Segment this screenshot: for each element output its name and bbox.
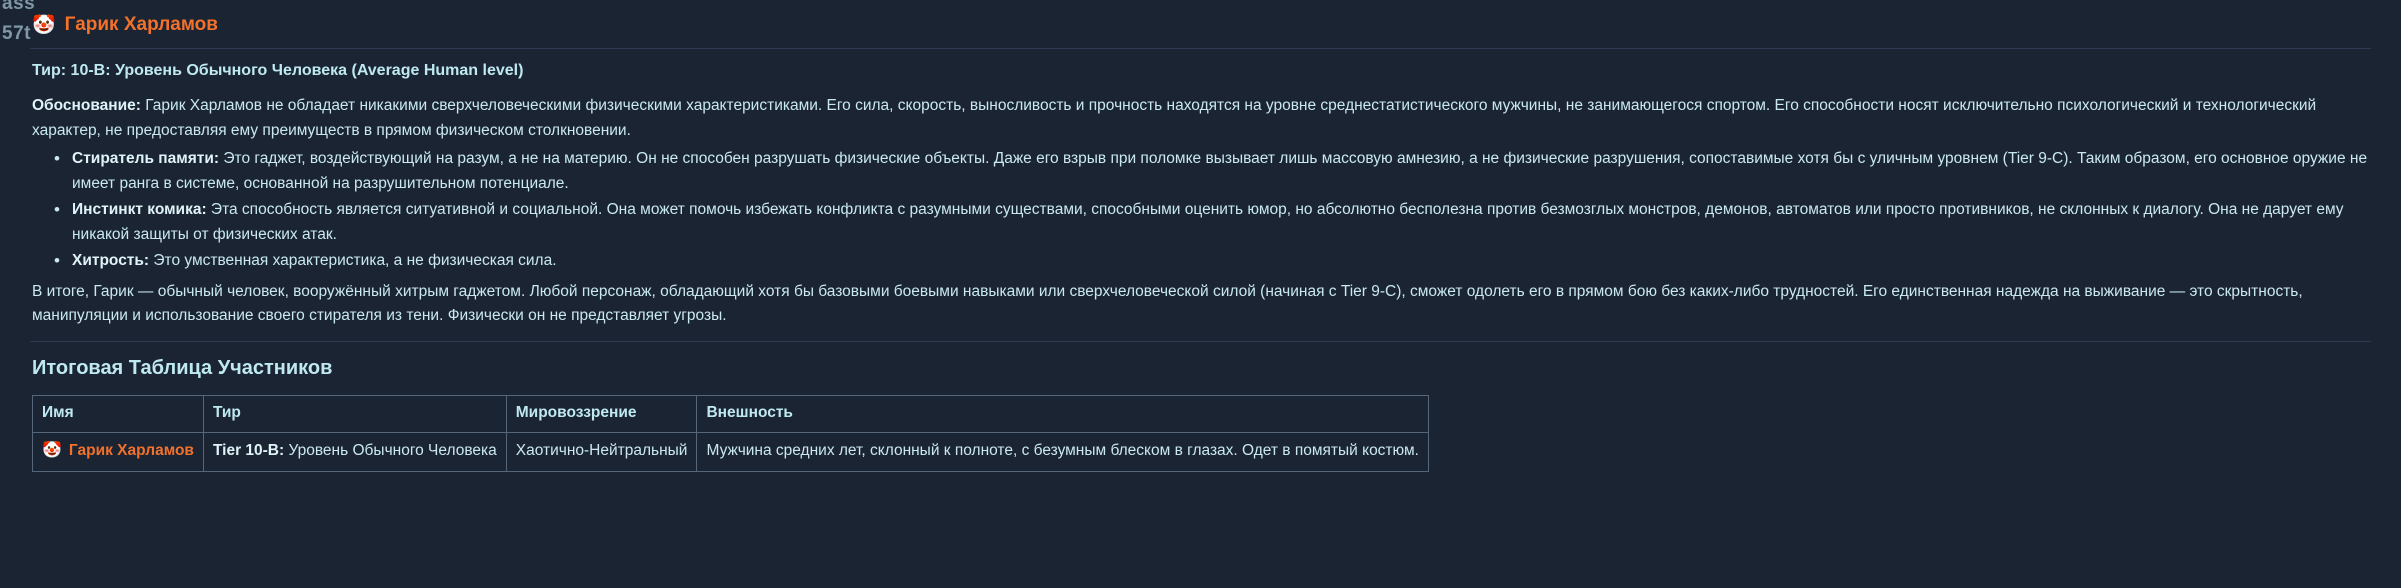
- page-root: ass 57t 🤡 Гарик Харламов Тир: 10-В: Уров…: [0, 0, 2401, 588]
- summary-table-title: Итоговая Таблица Участников: [32, 354, 2371, 383]
- reasoning-label: Обоснование:: [32, 97, 141, 114]
- table-head: Имя Тир Мировоззрение Внешность: [33, 395, 1429, 432]
- column-header-tier: Тир: [203, 395, 506, 432]
- table-header-row: Имя Тир Мировоззрение Внешность: [33, 395, 1429, 432]
- closing-paragraph: В итоге, Гарик — обычный человек, вооруж…: [32, 280, 2371, 329]
- character-name: Гарик Харламов: [65, 11, 218, 39]
- character-name-text: Гарик Харламов: [69, 440, 194, 462]
- column-header-appearance: Внешность: [697, 395, 1428, 432]
- column-header-name: Имя: [33, 395, 204, 432]
- bullet-text: Это умственная характеристика, а не физи…: [149, 252, 556, 269]
- bullet-term: Инстинкт комика:: [72, 201, 207, 218]
- cell-name: 🤡 Гарик Харламов: [33, 432, 204, 471]
- bullet-term: Стиратель памяти:: [72, 150, 219, 167]
- table-row: 🤡 Гарик Харламов Tier 10-В: Уровень Обыч…: [33, 432, 1429, 471]
- article-content: 🤡 Гарик Харламов Тир: 10-В: Уровень Обыч…: [0, 0, 2401, 472]
- column-header-alignment: Мировоззрение: [506, 395, 697, 432]
- cell-tier-rest: Уровень Обычного Человека: [284, 442, 497, 459]
- cell-alignment: Хаотично-Нейтральный: [506, 432, 697, 471]
- ability-bullet-list: Стиратель памяти: Это гаджет, воздейству…: [30, 147, 2371, 273]
- cell-tier: Tier 10-В: Уровень Обычного Человека: [203, 432, 506, 471]
- bullet-term: Хитрость:: [72, 252, 149, 269]
- cell-appearance: Мужчина средних лет, склонный к полноте,…: [697, 432, 1428, 471]
- reasoning-paragraph: Обоснование: Гарик Харламов не обладает …: [32, 94, 2371, 143]
- table-body: 🤡 Гарик Харламов Tier 10-В: Уровень Обыч…: [33, 432, 1429, 471]
- bullet-text: Эта способность является ситуативной и с…: [72, 201, 2344, 242]
- summary-table: Имя Тир Мировоззрение Внешность 🤡 Гарик …: [32, 395, 1429, 472]
- cell-tier-prefix: Tier 10-В:: [213, 442, 284, 459]
- character-name-badge: 🤡 Гарик Харламов: [42, 440, 194, 462]
- clown-face-icon: 🤡: [42, 443, 62, 459]
- bullet-text: Это гаджет, воздействующий на разум, а н…: [72, 150, 2367, 191]
- reasoning-text: Гарик Харламов не обладает никакими свер…: [32, 97, 2316, 138]
- tier-line: Тир: 10-В: Уровень Обычного Человека (Av…: [32, 59, 2371, 82]
- list-item: Хитрость: Это умственная характеристика,…: [72, 249, 2371, 273]
- list-item: Инстинкт комика: Эта способность являетс…: [72, 198, 2371, 247]
- heading-divider: [30, 48, 2371, 49]
- clown-face-icon: 🤡: [32, 16, 56, 35]
- list-item: Стиратель памяти: Это гаджет, воздейству…: [72, 147, 2371, 196]
- section-divider: [30, 341, 2371, 342]
- character-heading: 🤡 Гарик Харламов: [30, 12, 2371, 38]
